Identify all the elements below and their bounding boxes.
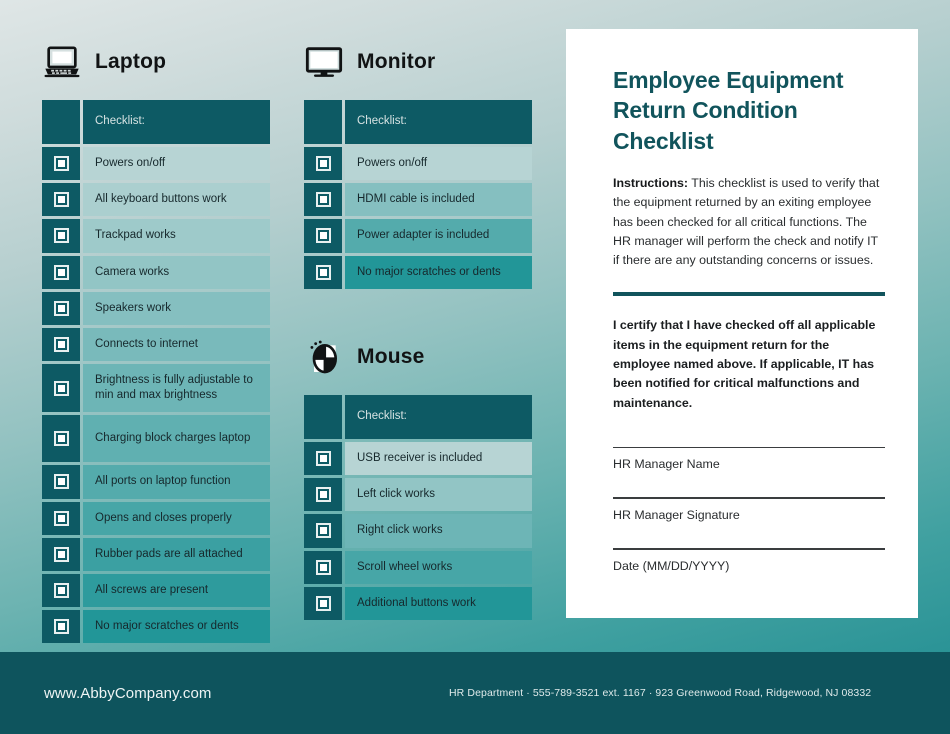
checklist-row[interactable]: Speakers work bbox=[42, 292, 270, 325]
checklist-row[interactable]: Left click works bbox=[304, 478, 532, 511]
monitor-icon bbox=[304, 42, 344, 82]
checklist-table-laptop: Checklist: Powers on/offAll keyboard but… bbox=[42, 100, 270, 643]
checklist-row[interactable]: No major scratches or dents bbox=[304, 256, 532, 289]
checklist-row[interactable]: USB receiver is included bbox=[304, 442, 532, 475]
page-title: Employee Equipment Return Condition Chec… bbox=[613, 65, 885, 156]
section-title-laptop: Laptop bbox=[95, 50, 166, 74]
checklist-row[interactable]: Connects to internet bbox=[42, 328, 270, 361]
checkbox-icon[interactable] bbox=[316, 523, 331, 538]
checklist-item-label: HDMI cable is included bbox=[345, 183, 532, 216]
checklist-item-label: USB receiver is included bbox=[345, 442, 532, 475]
checkbox-icon[interactable] bbox=[54, 156, 69, 171]
checkbox-cell[interactable] bbox=[42, 364, 80, 412]
checkbox-icon[interactable] bbox=[316, 192, 331, 207]
header-label: Checklist: bbox=[345, 395, 532, 439]
checklist-row[interactable]: Camera works bbox=[42, 256, 270, 289]
checkbox-cell[interactable] bbox=[304, 219, 342, 252]
laptop-icon bbox=[42, 42, 82, 82]
checklist-item-label: No major scratches or dents bbox=[345, 256, 532, 289]
checkbox-icon[interactable] bbox=[54, 619, 69, 634]
checklist-page: Laptop Checklist: Powers on/offAll keybo… bbox=[0, 0, 950, 734]
checkbox-icon[interactable] bbox=[54, 547, 69, 562]
checkbox-icon[interactable] bbox=[54, 474, 69, 489]
signature-line[interactable] bbox=[613, 447, 885, 449]
certification-statement: I certify that I have checked off all ap… bbox=[613, 316, 885, 413]
checklist-table-monitor: Checklist: Powers on/offHDMI cable is in… bbox=[304, 100, 532, 289]
checkbox-icon[interactable] bbox=[316, 596, 331, 611]
checklist-item-label: Left click works bbox=[345, 478, 532, 511]
checkbox-cell[interactable] bbox=[42, 574, 80, 607]
checkbox-cell[interactable] bbox=[304, 256, 342, 289]
checklist-row[interactable]: Power adapter is included bbox=[304, 219, 532, 252]
signature-line[interactable] bbox=[613, 548, 885, 550]
header-checkbox-cell bbox=[304, 100, 342, 144]
checkbox-cell[interactable] bbox=[42, 219, 80, 252]
checkbox-cell[interactable] bbox=[304, 183, 342, 216]
checklist-item-label: Charging block charges laptop bbox=[83, 415, 270, 462]
checkbox-cell[interactable] bbox=[304, 551, 342, 584]
signature-fields: HR Manager NameHR Manager SignatureDate … bbox=[613, 447, 885, 573]
checklist-row[interactable]: Powers on/off bbox=[304, 147, 532, 180]
checklist-row[interactable]: Opens and closes properly bbox=[42, 502, 270, 535]
checkbox-icon[interactable] bbox=[54, 265, 69, 280]
checklist-row[interactable]: All ports on laptop function bbox=[42, 465, 270, 498]
checkbox-icon[interactable] bbox=[316, 156, 331, 171]
checklist-item-label: Rubber pads are all attached bbox=[83, 538, 270, 571]
info-card: Employee Equipment Return Condition Chec… bbox=[566, 29, 918, 618]
checklist-row[interactable]: Powers on/off bbox=[42, 147, 270, 180]
section-header-monitor: Monitor bbox=[304, 38, 532, 86]
checkbox-icon[interactable] bbox=[316, 487, 331, 502]
section-divider bbox=[613, 292, 885, 296]
checkbox-icon[interactable] bbox=[54, 228, 69, 243]
instructions-label: Instructions: bbox=[613, 176, 688, 190]
signature-field[interactable]: HR Manager Signature bbox=[613, 497, 885, 522]
checkbox-icon[interactable] bbox=[316, 560, 331, 575]
checkbox-icon[interactable] bbox=[54, 511, 69, 526]
checkbox-cell[interactable] bbox=[42, 538, 80, 571]
checklist-item-label: Powers on/off bbox=[345, 147, 532, 180]
checklist-item-label: Trackpad works bbox=[83, 219, 270, 252]
checklist-item-label: Additional buttons work bbox=[345, 587, 532, 620]
checkbox-cell[interactable] bbox=[304, 442, 342, 475]
checkbox-icon[interactable] bbox=[316, 451, 331, 466]
checkbox-icon[interactable] bbox=[54, 583, 69, 598]
table-header-row: Checklist: bbox=[42, 100, 270, 144]
header-checkbox-cell bbox=[42, 100, 80, 144]
checkbox-cell[interactable] bbox=[42, 328, 80, 361]
signature-label: HR Manager Name bbox=[613, 457, 885, 471]
checklist-item-label: Scroll wheel works bbox=[345, 551, 532, 584]
checklist-item-label: Camera works bbox=[83, 256, 270, 289]
section-header-mouse: Mouse bbox=[304, 333, 532, 381]
contact-info: HR Department · 555-789-3521 ext. 1167 ·… bbox=[449, 687, 871, 699]
checklist-row[interactable]: HDMI cable is included bbox=[304, 183, 532, 216]
section-title-monitor: Monitor bbox=[357, 50, 435, 74]
checkbox-cell[interactable] bbox=[304, 587, 342, 620]
page-footer: www.AbbyCompany.com HR Department · 555-… bbox=[0, 652, 950, 734]
checklist-row[interactable]: Scroll wheel works bbox=[304, 551, 532, 584]
checklist-row[interactable]: Brightness is fully adjustable to min an… bbox=[42, 364, 270, 412]
checkbox-icon[interactable] bbox=[54, 301, 69, 316]
checkbox-icon[interactable] bbox=[54, 192, 69, 207]
instructions-paragraph: Instructions: This checklist is used to … bbox=[613, 174, 885, 270]
checklist-row[interactable]: No major scratches or dents bbox=[42, 610, 270, 643]
checklist-item-label: All keyboard buttons work bbox=[83, 183, 270, 216]
checklist-item-label: Connects to internet bbox=[83, 328, 270, 361]
header-label: Checklist: bbox=[83, 100, 270, 144]
checkbox-icon[interactable] bbox=[54, 337, 69, 352]
checklist-item-label: Power adapter is included bbox=[345, 219, 532, 252]
checklist-table-mouse: Checklist: USB receiver is includedLeft … bbox=[304, 395, 532, 620]
section-laptop: Laptop Checklist: Powers on/offAll keybo… bbox=[42, 38, 270, 643]
checklist-item-label: Right click works bbox=[345, 514, 532, 547]
signature-label: Date (MM/DD/YYYY) bbox=[613, 559, 885, 573]
checkbox-cell[interactable] bbox=[42, 147, 80, 180]
checklist-row[interactable]: Charging block charges laptop bbox=[42, 415, 270, 462]
mouse-icon bbox=[304, 337, 344, 377]
checkbox-cell[interactable] bbox=[42, 183, 80, 216]
header-checkbox-cell bbox=[304, 395, 342, 439]
checklist-item-label: Brightness is fully adjustable to min an… bbox=[83, 364, 270, 412]
checkbox-cell[interactable] bbox=[42, 502, 80, 535]
checkbox-cell[interactable] bbox=[42, 256, 80, 289]
checkbox-cell[interactable] bbox=[42, 465, 80, 498]
section-title-mouse: Mouse bbox=[357, 345, 425, 369]
checklist-item-label: Speakers work bbox=[83, 292, 270, 325]
checkbox-cell[interactable] bbox=[304, 514, 342, 547]
signature-line[interactable] bbox=[613, 497, 885, 499]
checklist-item-label: All ports on laptop function bbox=[83, 465, 270, 498]
checkbox-cell[interactable] bbox=[304, 478, 342, 511]
checklist-item-label: All screws are present bbox=[83, 574, 270, 607]
section-monitor: Monitor Checklist: Powers on/offHDMI cab… bbox=[304, 38, 532, 289]
website-link[interactable]: www.AbbyCompany.com bbox=[44, 685, 212, 702]
checkbox-icon[interactable] bbox=[54, 381, 69, 396]
checkbox-cell[interactable] bbox=[42, 610, 80, 643]
checklist-item-label: Opens and closes properly bbox=[83, 502, 270, 535]
checkbox-cell[interactable] bbox=[42, 415, 80, 462]
checkbox-cell[interactable] bbox=[42, 292, 80, 325]
checkbox-icon[interactable] bbox=[316, 228, 331, 243]
checklist-row[interactable]: Rubber pads are all attached bbox=[42, 538, 270, 571]
checklist-row[interactable]: Trackpad works bbox=[42, 219, 270, 252]
checklist-row[interactable]: All screws are present bbox=[42, 574, 270, 607]
header-label: Checklist: bbox=[345, 100, 532, 144]
section-header-laptop: Laptop bbox=[42, 38, 270, 86]
checkbox-icon[interactable] bbox=[316, 265, 331, 280]
signature-field[interactable]: Date (MM/DD/YYYY) bbox=[613, 548, 885, 573]
checklist-item-label: Powers on/off bbox=[83, 147, 270, 180]
checklist-row[interactable]: All keyboard buttons work bbox=[42, 183, 270, 216]
checklist-row[interactable]: Right click works bbox=[304, 514, 532, 547]
checkbox-icon[interactable] bbox=[54, 431, 69, 446]
checklist-item-label: No major scratches or dents bbox=[83, 610, 270, 643]
table-header-row: Checklist: bbox=[304, 395, 532, 439]
checklist-row[interactable]: Additional buttons work bbox=[304, 587, 532, 620]
checkbox-cell[interactable] bbox=[304, 147, 342, 180]
table-header-row: Checklist: bbox=[304, 100, 532, 144]
signature-field[interactable]: HR Manager Name bbox=[613, 447, 885, 472]
section-mouse: Mouse Checklist: USB receiver is include… bbox=[304, 333, 532, 620]
signature-label: HR Manager Signature bbox=[613, 508, 885, 522]
